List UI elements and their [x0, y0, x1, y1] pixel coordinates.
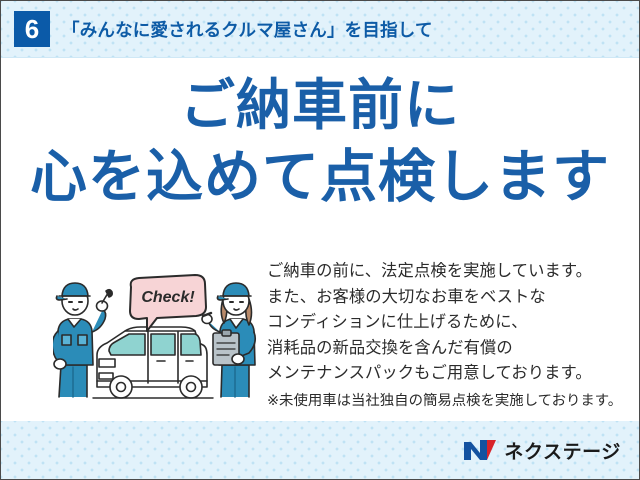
body-line-1: ご納車の前に、法定点検を実施しています。 — [267, 259, 627, 285]
header-banner: 6 「みんなに愛されるクルマ屋さん」を目指して — [1, 1, 639, 58]
check-bubble-label: Check! — [141, 289, 195, 306]
mechanics-illustration: Check! — [53, 269, 263, 414]
footer-banner: ネクステージ — [1, 421, 639, 479]
female-mechanic — [202, 283, 255, 397]
nextage-logo-mark — [463, 438, 497, 462]
body-line-5: メンテナンスパックもご用意しております。 — [267, 361, 627, 387]
headline-line-1: ご納車前に — [1, 73, 639, 138]
headline-line-2: 心を込めて点検します — [1, 144, 639, 211]
advertisement-page: 6 「みんなに愛されるクルマ屋さん」を目指して ご納車前に 心を込めて点検します… — [0, 0, 640, 480]
body-line-4: 消耗品の新品交換を含んだ有償の — [267, 336, 627, 362]
body-line-2: また、お客様の大切なお車をベストな — [267, 285, 627, 311]
headline-block: ご納車前に 心を込めて点検します — [1, 73, 639, 211]
header-title: 「みんなに愛されるクルマ屋さん」を目指して — [62, 17, 433, 42]
body-copy: ご納車の前に、法定点検を実施しています。 また、お客様の大切なお車をベストな コ… — [267, 259, 627, 413]
nextage-logo: ネクステージ — [463, 437, 621, 464]
section-number-badge: 6 — [14, 11, 50, 47]
body-line-3: コンディションに仕上げるために、 — [267, 310, 627, 336]
body-disclaimer-note: ※未使用車は当社独自の簡易点検を実施しております。 — [267, 389, 627, 413]
van-illustration — [93, 327, 213, 398]
nextage-logo-text: ネクステージ — [504, 437, 621, 464]
